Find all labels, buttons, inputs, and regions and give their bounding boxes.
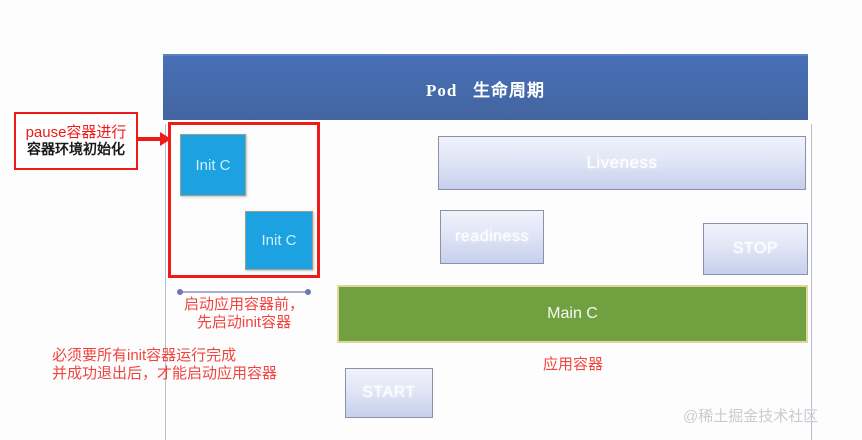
main-container-caption: 应用容器 <box>498 356 648 374</box>
liveness-probe-box[interactable]: Liveness <box>438 136 806 190</box>
rule-note-line-1: 必须要所有init容器运行完成 <box>52 347 342 365</box>
diagram-canvas: Pod 生命周期 pause容器进行 容器环境初始化 Init C Init C… <box>0 0 862 440</box>
watermark: @稀土掘金技术社区 <box>683 405 818 426</box>
main-container-label: Main C <box>547 305 598 323</box>
annotation-line-1: pause容器进行 <box>26 125 127 142</box>
stop-label: STOP <box>733 240 778 258</box>
main-container-box[interactable]: Main C <box>337 285 808 343</box>
init-section-caption: 启动应用容器前， 先启动init容器 <box>166 296 322 333</box>
init-container-label-1: Init C <box>195 157 230 174</box>
init-container-box-2[interactable]: Init C <box>245 211 313 270</box>
init-container-label-2: Init C <box>261 232 296 249</box>
rule-note-line-2: 并成功退出后，才能启动应用容器 <box>52 365 342 383</box>
readiness-probe-box[interactable]: readiness <box>440 210 544 264</box>
init-caption-line-2: 先启动init容器 <box>166 314 322 332</box>
annotation-line-2: 容器环境初始化 <box>27 142 125 158</box>
pause-container-annotation: pause容器进行 容器环境初始化 <box>14 112 138 170</box>
readiness-label: readiness <box>455 228 529 246</box>
init-container-box-1[interactable]: Init C <box>180 134 246 196</box>
divider-left <box>165 124 166 440</box>
init-rule-note: 必须要所有init容器运行完成 并成功退出后，才能启动应用容器 <box>52 347 342 384</box>
start-label: START <box>362 384 415 402</box>
liveness-label: Liveness <box>586 153 657 173</box>
page-title: Pod 生命周期 <box>426 76 545 101</box>
divider-right <box>811 124 812 440</box>
stop-hook-box[interactable]: STOP <box>703 223 808 275</box>
start-hook-box[interactable]: START <box>345 368 433 418</box>
init-caption-line-1: 启动应用容器前， <box>166 296 322 314</box>
pod-lifecycle-header: Pod 生命周期 <box>163 54 808 120</box>
right-arrow-icon <box>136 128 172 150</box>
